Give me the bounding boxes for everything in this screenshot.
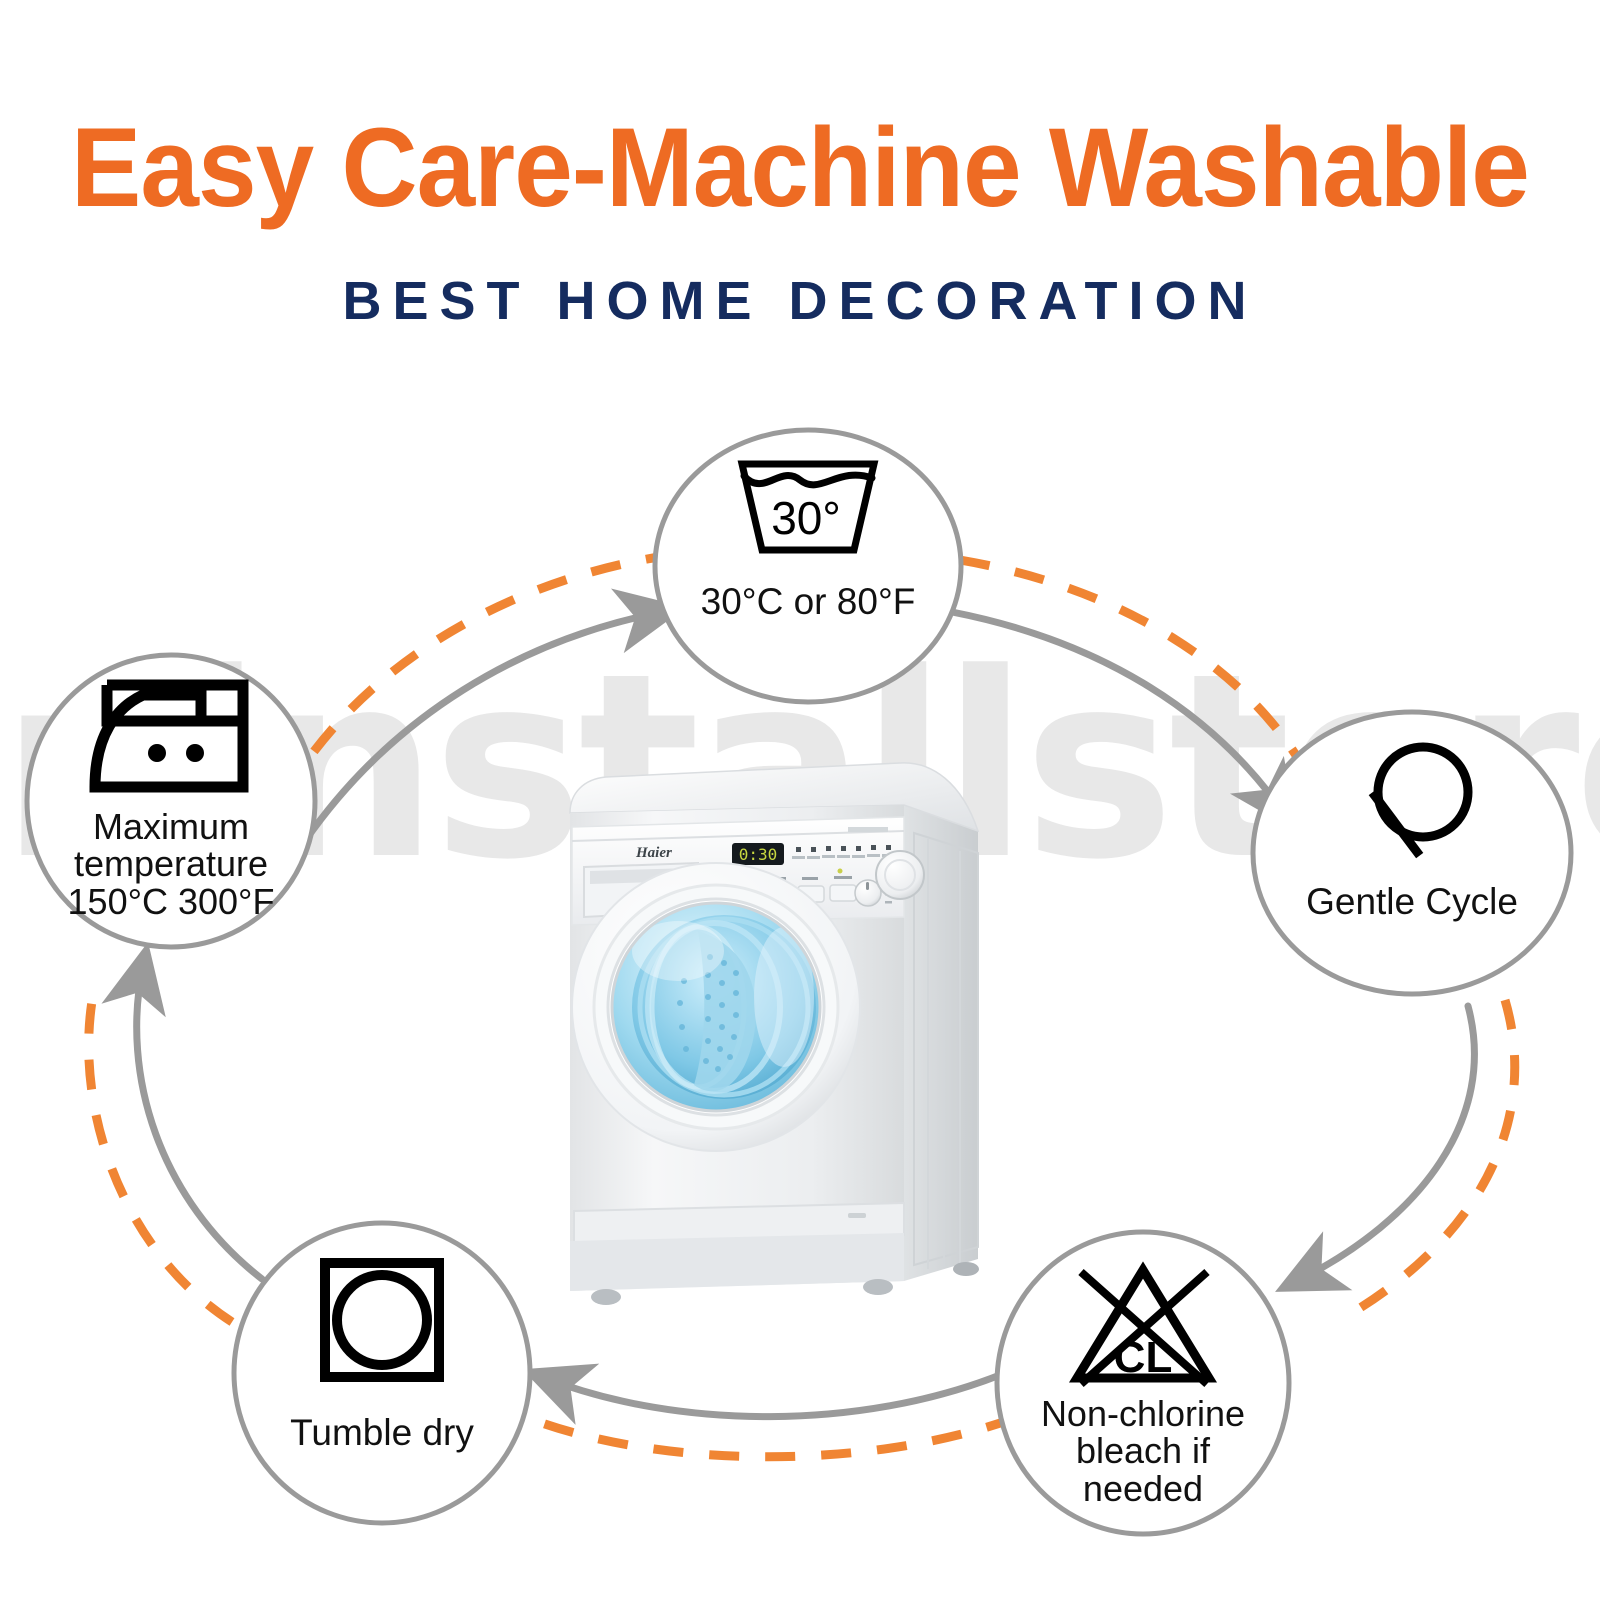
node-max-iron-temperature[interactable]: Maximum temperature 150°C 300°F: [27, 655, 315, 947]
gentle-cycle-icon: [1337, 738, 1487, 873]
node-wash-30[interactable]: 30° 30°C or 80°F: [655, 430, 961, 702]
washer-foot-rear: [953, 1262, 979, 1276]
node-tumble-dry-label: Tumble dry: [290, 1414, 474, 1452]
node-non-chlorine-bleach[interactable]: CL Non-chlorine bleach if needed: [997, 1232, 1289, 1534]
dial-group[interactable]: [876, 851, 924, 899]
tumble-dry-icon: [317, 1255, 447, 1390]
node-gentle-cycle-label: Gentle Cycle: [1306, 883, 1518, 921]
iron-two-dots-icon: [81, 677, 261, 800]
washer-foot-left: [591, 1289, 621, 1305]
washer-drum: [632, 915, 816, 1099]
washing-machine-image: Haier 0:30: [548, 735, 1018, 1335]
infographic-canvas: Easy Care-Machine Washable BEST HOME DEC…: [0, 0, 1600, 1600]
wash-tub-30-icon: 30°: [728, 454, 888, 567]
brand-label: Haier: [635, 845, 672, 861]
model-badge: [848, 827, 888, 832]
node-non-chlorine-bleach-label: Non-chlorine bleach if needed: [1041, 1395, 1245, 1507]
node-wash-30-label: 30°C or 80°F: [701, 583, 916, 621]
wash-temp-value: 30°: [771, 492, 841, 544]
display-value: 0:30: [739, 845, 778, 864]
washing-machine-illustration: Haier 0:30: [548, 735, 1018, 1335]
node-gentle-cycle[interactable]: Gentle Cycle: [1253, 712, 1571, 994]
no-chlorine-bleach-triangle-icon: CL: [1067, 1260, 1219, 1393]
node-max-iron-temperature-label: Maximum temperature 150°C 300°F: [68, 808, 275, 920]
node-tumble-dry[interactable]: Tumble dry: [234, 1223, 530, 1523]
washer-foot-right: [863, 1279, 893, 1295]
